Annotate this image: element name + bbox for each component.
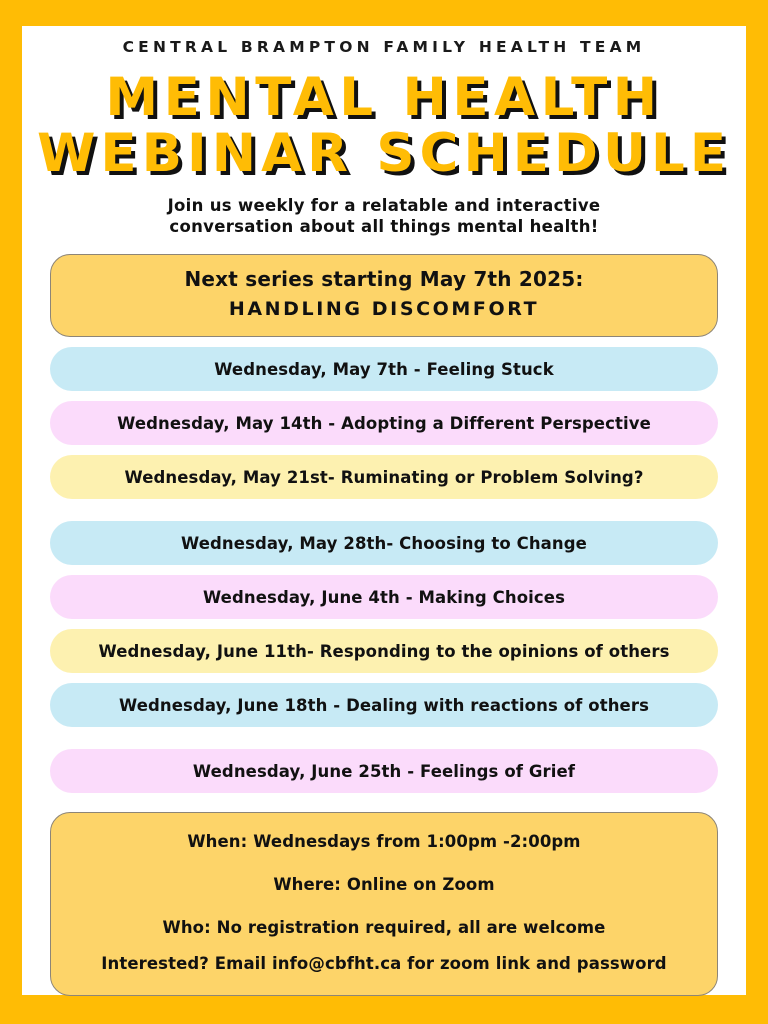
session-row: Wednesday, May 28th- Choosing to Change (50, 521, 718, 565)
session-row: Wednesday, May 21st- Ruminating or Probl… (50, 455, 718, 499)
info-panel: When: Wednesdays from 1:00pm -2:00pm Whe… (50, 812, 718, 996)
series-name: HANDLING DISCOMFORT (69, 296, 699, 323)
session-label: Wednesday, June 18th - Dealing with reac… (119, 696, 649, 715)
info-when: When: Wednesdays from 1:00pm -2:00pm (71, 831, 697, 853)
poster-sheet: CENTRAL BRAMPTON FAMILY HEALTH TEAM MENT… (22, 26, 746, 995)
poster-root: CENTRAL BRAMPTON FAMILY HEALTH TEAM MENT… (0, 0, 768, 1024)
session-row: Wednesday, May 7th - Feeling Stuck (50, 347, 718, 391)
series-banner: Next series starting May 7th 2025: HANDL… (50, 254, 718, 337)
session-row: Wednesday, June 25th - Feelings of Grief (50, 749, 718, 793)
session-label: Wednesday, June 4th - Making Choices (203, 588, 565, 607)
session-label: Wednesday, May 7th - Feeling Stuck (214, 360, 554, 379)
subtitle: Join us weekly for a relatable and inter… (22, 195, 746, 237)
session-label: Wednesday, May 21st- Ruminating or Probl… (124, 468, 643, 487)
subtitle-line-2: conversation about all things mental hea… (22, 216, 746, 237)
title-line-1: MENTAL HEALTH (22, 70, 746, 126)
session-label: Wednesday, June 25th - Feelings of Grief (193, 762, 575, 781)
session-row: Wednesday, June 4th - Making Choices (50, 575, 718, 619)
session-row: Wednesday, June 11th- Responding to the … (50, 629, 718, 673)
page-title: MENTAL HEALTH WEBINAR SCHEDULE (22, 70, 746, 182)
session-row: Wednesday, June 18th - Dealing with reac… (50, 683, 718, 727)
session-label: Wednesday, May 28th- Choosing to Change (181, 534, 587, 553)
session-label: Wednesday, May 14th - Adopting a Differe… (117, 414, 651, 433)
info-where: Where: Online on Zoom (71, 874, 697, 896)
subtitle-line-1: Join us weekly for a relatable and inter… (22, 195, 746, 216)
organization-name: CENTRAL BRAMPTON FAMILY HEALTH TEAM (22, 38, 746, 56)
session-label: Wednesday, June 11th- Responding to the … (99, 642, 670, 661)
session-row: Wednesday, May 14th - Adopting a Differe… (50, 401, 718, 445)
title-line-2: WEBINAR SCHEDULE (22, 126, 746, 182)
series-start-date: Next series starting May 7th 2025: (69, 266, 699, 293)
session-list: Wednesday, May 7th - Feeling Stuck Wedne… (50, 347, 718, 803)
info-contact: Interested? Email info@cbfht.ca for zoom… (71, 953, 697, 975)
info-who: Who: No registration required, all are w… (71, 917, 697, 939)
